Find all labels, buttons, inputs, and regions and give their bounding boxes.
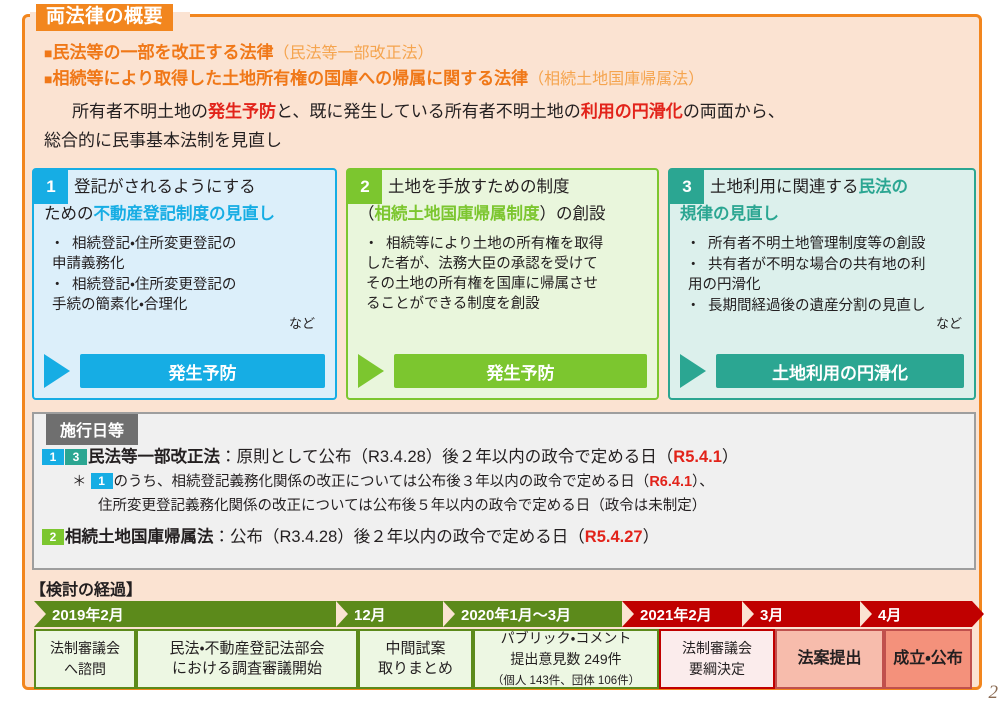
card-1-bullet-1-line-2: 申請義務化	[52, 254, 329, 274]
enforcement-line-4-text-end: ）	[643, 528, 660, 546]
timeline-arrow-2021-04[interactable]: 4月	[860, 601, 972, 627]
card-1-bullet-2-line-2: 手続の簡素化・合理化	[52, 295, 329, 315]
enforcement-line-3: 住所変更登記義務化関係の改正については公布後５年以内の政令で定める日（政令は未制…	[42, 494, 968, 518]
timeline-cell-4[interactable]: パブリック・コメント 提出意見数 249件 （個人 143件、団体 106件）	[473, 629, 659, 689]
badge-1-icon: 1	[42, 449, 64, 465]
timeline-arrow-2021-02[interactable]: 2021年2月	[622, 601, 742, 627]
headline-bullets: ■民法等の一部を改正する法律（民法等一部改正法） ■相続等により取得した土地所有…	[44, 40, 974, 92]
headline-paragraph: 所有者不明土地の発生予防と、既に発生している所有者不明土地の利用の円滑化の両面か…	[44, 97, 974, 155]
play-triangle-icon	[44, 354, 70, 388]
measure-card-3[interactable]: 3 土地利用に関連する民法の 規律の見直し ・ 所有者不明土地管理制度等の創設 …	[668, 168, 976, 400]
headline-bullet-2-paren: （相続土地国庫帰属法）	[528, 71, 704, 88]
card-1-heading-line-2: ための不動産登記制度の見直し	[44, 201, 329, 228]
card-3-footer: 土地利用の円滑化	[680, 354, 964, 388]
card-1-etc-label: など	[42, 314, 329, 334]
timeline-cell-5[interactable]: 法制審議会 要綱決定	[659, 629, 775, 689]
enforcement-lines: 13民法等一部改正法：原則として公布（R3.4.28）後２年以内の政令で定める日…	[42, 444, 968, 550]
timeline-cell-1[interactable]: 法制審議会 へ諮問	[34, 629, 136, 689]
para-text-a: 所有者不明土地の	[72, 102, 208, 121]
card-1-bullet-1: ・ 相続登記・住所変更登記の 申請義務化	[42, 234, 329, 274]
card-2-bullet-1-line-1: 相続等により土地の所有権を取得	[386, 236, 603, 252]
badge-2-icon: 2	[42, 529, 64, 545]
timeline-cell-3[interactable]: 中間試案 取りまとめ	[358, 629, 473, 689]
bullet-dot-icon: ・	[686, 255, 701, 275]
measure-card-2[interactable]: 2 土地を手放すための制度 （相続土地国庫帰属制度）の創設 ・ 相続等により土地…	[346, 168, 659, 400]
timeline-cells: 法制審議会 へ諮問 民法・不動産登記法部会 における調査審議開始 中間試案 取り…	[34, 629, 972, 689]
card-2-heading: 土地を手放すための制度 （相続土地国庫帰属制度）の創設	[358, 174, 651, 228]
timeline-cell-1-text: 法制審議会 へ諮問	[50, 638, 120, 680]
bullet-dot-icon: ・	[686, 296, 701, 316]
card-3-heading-prefix: 土地利用に関連する	[710, 178, 859, 196]
card-2-heading-line-1: 土地を手放すための制度	[358, 174, 651, 201]
card-3-outcome-label: 土地利用の円滑化	[716, 354, 964, 388]
headline-paragraph-line-2: 総合的に民事基本法制を見直し	[44, 126, 974, 155]
timeline-arrow-2021-03[interactable]: 3月	[742, 601, 860, 627]
headline-bullet-1-paren: （民法等一部改正法）	[273, 45, 433, 62]
page-number: 2	[989, 682, 999, 704]
card-1-heading: 登記がされるようにする ための不動産登記制度の見直し	[44, 174, 329, 228]
para-highlight-utilization: 利用の円滑化	[581, 102, 683, 121]
card-2-body: ・ 相続等により土地の所有権を取得 した者が、法務大臣の承認を受けて その土地の…	[356, 234, 651, 315]
card-2-bullet-1: ・ 相続等により土地の所有権を取得 した者が、法務大臣の承認を受けて その土地の…	[356, 234, 651, 314]
card-3-bullet-3: ・ 長期間経過後の遺産分割の見直し	[678, 296, 968, 316]
card-2-heading-prefix: （	[358, 205, 375, 223]
para-text-c: の両面から、	[683, 102, 785, 121]
card-1-heading-prefix: ための	[44, 205, 94, 223]
slide-root: 両法律の概要 ■民法等の一部を改正する法律（民法等一部改正法） ■相続等により取…	[0, 0, 1004, 704]
timeline-cell-4-text: パブリック・コメント 提出意見数 249件 （個人 143件、団体 106件）	[492, 628, 640, 691]
bullet-dot-icon: ・	[50, 275, 65, 295]
headline-bullet-2-bold: 相続等により取得した土地所有権の国庫への帰属に関する法律	[52, 69, 528, 88]
badge-1-icon: 1	[91, 473, 113, 489]
enforcement-line-4-law: 相続土地国庫帰属法	[65, 528, 214, 546]
enforcement-line-1: 13民法等一部改正法：原則として公布（R3.4.28）後２年以内の政令で定める日…	[42, 444, 968, 470]
card-1-bullet-2-line-1: 相続登記・住所変更登記の	[72, 277, 236, 293]
timeline-arrow-2020-01-03[interactable]: 2020年1月〜3月	[443, 601, 622, 627]
card-3-heading-emphasis-1: 民法の	[859, 178, 909, 196]
timeline-cell-3-text: 中間試案 取りまとめ	[378, 639, 453, 679]
measure-card-1[interactable]: 1 登記がされるようにする ための不動産登記制度の見直し ・ 相続登記・住所変更…	[32, 168, 337, 400]
card-1-body: ・ 相続登記・住所変更登記の 申請義務化 ・ 相続登記・住所変更登記の 手続の簡…	[42, 234, 329, 334]
enforcement-line-4: 2相続土地国庫帰属法：公布（R3.4.28）後２年以内の政令で定める日（R5.4…	[42, 524, 968, 550]
play-triangle-icon	[358, 354, 384, 388]
card-2-bullet-1-line-4: ることができる制度を創設	[366, 294, 651, 314]
measure-cards: 1 登記がされるようにする ための不動産登記制度の見直し ・ 相続登記・住所変更…	[32, 168, 976, 400]
card-3-bullet-2-line-2: 用の円滑化	[688, 275, 968, 295]
timeline-title: 【検討の経過】	[30, 576, 142, 600]
timeline-cell-2[interactable]: 民法・不動産登記法部会 における調査審議開始	[136, 629, 358, 689]
headline-paragraph-line-1: 所有者不明土地の発生予防と、既に発生している所有者不明土地の利用の円滑化の両面か…	[44, 97, 974, 126]
timeline: 2019年2月 12月 2020年1月〜3月 2021年2月 3月 4月 法制審…	[34, 601, 972, 689]
para-highlight-prevention: 発生予防	[208, 102, 276, 121]
timeline-cell-2-text: 民法・不動産登記法部会 における調査審議開始	[169, 639, 324, 679]
card-1-bullet-1-line-1: 相続登記・住所変更登記の	[72, 236, 236, 252]
card-2-heading-line-2: （相続土地国庫帰属制度）の創設	[358, 201, 651, 228]
play-triangle-icon	[680, 354, 706, 388]
card-3-bullet-2: ・ 共有者が不明な場合の共有地の利 用の円滑化	[678, 255, 968, 295]
enforcement-line-2-text: のうち、相続登記義務化関係の改正については公布後３年以内の政令で定める日（	[114, 474, 650, 490]
headline-bullet-1-bold: 民法等の一部を改正する法律	[52, 43, 273, 62]
enforcement-line-2: ＊ 1のうち、相続登記義務化関係の改正については公布後３年以内の政令で定める日（…	[42, 470, 968, 494]
enforcement-panel: 施行日等 13民法等一部改正法：原則として公布（R3.4.28）後２年以内の政令…	[32, 412, 976, 570]
card-2-heading-emphasis: 相続土地国庫帰属制度	[375, 205, 540, 223]
enforcement-line-4-date: R5.4.27	[585, 528, 643, 546]
timeline-arrow-bar: 2019年2月 12月 2020年1月〜3月 2021年2月 3月 4月	[34, 601, 972, 627]
card-1-heading-line-1: 登記がされるようにする	[44, 174, 329, 201]
card-1-footer: 発生予防	[44, 354, 325, 388]
card-2-footer: 発生予防	[358, 354, 647, 388]
card-3-bullet-3-line-1: 長期間経過後の遺産分割の見直し	[708, 298, 926, 314]
card-1-heading-emphasis: 不動産登記制度の見直し	[94, 205, 276, 223]
card-3-heading: 土地利用に関連する民法の 規律の見直し	[680, 174, 968, 228]
badge-3-icon: 3	[65, 449, 87, 465]
enforcement-line-2-star: ＊	[72, 474, 87, 490]
card-2-heading-suffix: ）の創設	[540, 205, 606, 223]
card-3-bullet-2-line-1: 共有者が不明な場合の共有地の利	[708, 257, 926, 273]
enforcement-line-2-text-end: ）、	[692, 474, 714, 490]
enforcement-line-4-text: ：公布（R3.4.28）後２年以内の政令で定める日（	[214, 528, 585, 546]
card-2-bullet-1-line-3: その土地の所有権を国庫に帰属させ	[366, 274, 651, 294]
card-3-bullet-1-line-1: 所有者不明土地管理制度等の創設	[708, 236, 926, 252]
timeline-arrow-2019-02[interactable]: 2019年2月	[34, 601, 336, 627]
bullet-dot-icon: ・	[686, 234, 701, 254]
card-2-bullet-1-line-2: した者が、法務大臣の承認を受けて	[366, 254, 651, 274]
enforcement-line-1-text-end: ）	[722, 448, 739, 466]
card-3-heading-line-1: 土地利用に関連する民法の	[680, 174, 968, 201]
headline-bullet-1: ■民法等の一部を改正する法律（民法等一部改正法）	[44, 40, 974, 66]
card-1-bullet-2: ・ 相続登記・住所変更登記の 手続の簡素化・合理化	[42, 275, 329, 315]
page-title: 両法律の概要	[36, 4, 173, 31]
card-1-outcome-label: 発生予防	[80, 354, 325, 388]
card-3-heading-line-2: 規律の見直し	[680, 201, 968, 228]
bullet-dot-icon: ・	[50, 234, 65, 254]
enforcement-line-1-law: 民法等一部改正法	[88, 448, 220, 466]
enforcement-line-1-text: ：原則として公布（R3.4.28）後２年以内の政令で定める日（	[220, 448, 673, 466]
timeline-cell-5-text: 法制審議会 要綱決定	[682, 638, 752, 680]
enforcement-panel-title: 施行日等	[46, 414, 138, 445]
para-text-b: と、既に発生している所有者不明土地の	[276, 102, 581, 121]
card-2-outcome-label: 発生予防	[394, 354, 647, 388]
timeline-cell-6[interactable]: 法案提出	[775, 629, 884, 689]
card-3-bullet-1: ・ 所有者不明土地管理制度等の創設	[678, 234, 968, 254]
enforcement-line-2-date: R6.4.1	[649, 474, 692, 490]
timeline-arrow-2019-12[interactable]: 12月	[336, 601, 443, 627]
headline-bullet-2: ■相続等により取得した土地所有権の国庫への帰属に関する法律（相続土地国庫帰属法）	[44, 66, 974, 92]
bullet-dot-icon: ・	[364, 234, 379, 254]
enforcement-line-1-date: R5.4.1	[673, 448, 722, 466]
card-3-body: ・ 所有者不明土地管理制度等の創設 ・ 共有者が不明な場合の共有地の利 用の円滑…	[678, 234, 968, 334]
timeline-cell-7[interactable]: 成立・公布	[884, 629, 972, 689]
card-3-etc-label: など	[678, 314, 968, 334]
